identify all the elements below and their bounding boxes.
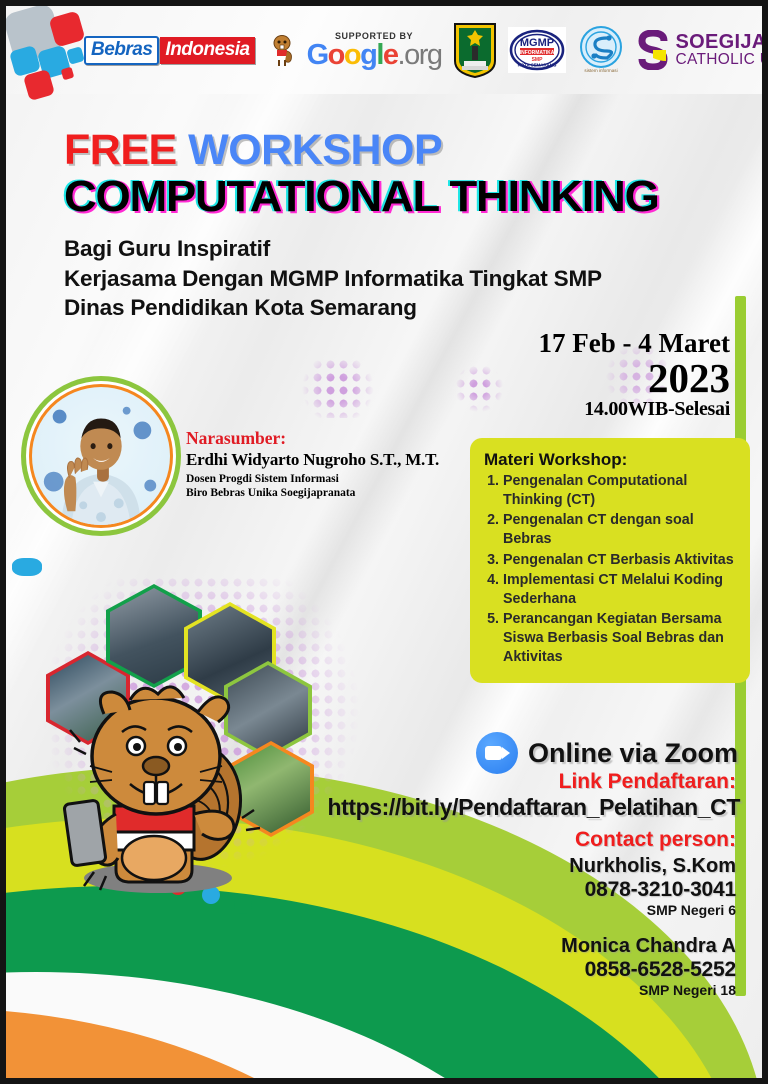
contact-school-1: SMP Negeri 6 (561, 902, 736, 918)
sponsor-header: Bebras Indonesia SUPPORTED BY Google.org (6, 6, 762, 94)
list-item: Implementasi CT Melalui Koding Sederhana (503, 571, 738, 609)
registration-url[interactable]: https://bit.ly/Pendaftaran_Pelatihan_CT (327, 794, 740, 821)
google-letter-e: e (383, 39, 398, 71)
google-letter-o1: o (328, 39, 344, 71)
google-letter-g1: G (307, 39, 328, 71)
materials-heading: Materi Workshop: (484, 450, 738, 470)
platform-row: Online via Zoom (476, 732, 738, 774)
university-name-line1: SOEGIJAPRANATA (676, 32, 762, 52)
svg-text:KOTA SEMARANG: KOTA SEMARANG (517, 63, 556, 68)
soegijapranata-wordmark: SOEGIJAPRANATA CATHOLIC UNIVERSITY (676, 32, 762, 68)
page-title-main: COMPUTATIONAL THINKING (64, 172, 659, 222)
speaker-label: Narasumber: (186, 428, 439, 449)
university-name-line2: CATHOLIC UNIVERSITY (676, 52, 762, 68)
svg-text:sistem informasi: sistem informasi (584, 68, 617, 73)
soegijapranata-logo: SOEGIJAPRANATA CATHOLIC UNIVERSITY (636, 30, 762, 70)
platform-label: Online via Zoom (528, 738, 738, 769)
speaker-role-line-2: Biro Bebras Unika Soegijapranata (186, 486, 439, 500)
mgmp-logo: MGMP INFORMATIKA SMP KOTA SEMARANG (508, 27, 566, 73)
list-item: Pengenalan CT Berbasis Aktivitas (503, 551, 738, 570)
google-org-logo: SUPPORTED BY Google.org (307, 31, 442, 70)
speaker-role-line-1: Dosen Progdi Sistem Informasi (186, 472, 439, 486)
list-item: Pengenalan Computational Thinking (CT) (503, 472, 738, 510)
dot-green (234, 896, 252, 914)
svg-text:INFORMATIKA: INFORMATIKA (519, 50, 554, 56)
speaker-photo-ring-orange (29, 384, 173, 528)
bebras-logo-part2: Indonesia (160, 37, 254, 64)
registration-heading: Link Pendaftaran: (559, 770, 736, 794)
list-item: Pengenalan CT dengan soal Bebras (503, 511, 738, 549)
bebras-indonesia-logo: Bebras Indonesia (84, 36, 255, 65)
list-item: Perancangan Kegiatan Bersama Siswa Berba… (503, 610, 738, 667)
speaker-info: Narasumber: Erdhi Widyarto Nugroho S.T.,… (186, 428, 439, 501)
contact-heading: Contact person: (561, 828, 736, 852)
halftone-cluster-small (454, 364, 504, 412)
poster-canvas: Bebras Indonesia SUPPORTED BY Google.org (6, 6, 762, 1078)
subtitle-line-2: Kerjasama Dengan MGMP Informatika Tingka… (64, 264, 602, 294)
contact-name-2: Monica Chandra A (561, 935, 736, 958)
subtitle-line-3: Dinas Pendidikan Kota Semarang (64, 293, 602, 323)
materials-list: Pengenalan Computational Thinking (CT) P… (484, 472, 738, 668)
sistem-informasi-logo: sistem informasi (576, 25, 626, 75)
semarang-crest-icon (452, 21, 498, 79)
speaker-role: Dosen Progdi Sistem Informasi Biro Bebra… (186, 472, 439, 501)
soegijapranata-mark-icon (636, 30, 670, 70)
poster-root: Bebras Indonesia SUPPORTED BY Google.org (0, 0, 768, 1084)
schedule-block: 17 Feb - 4 Maret 2023 14.00WIB-Selesai (539, 328, 730, 421)
title-word-free: FREE (64, 126, 177, 174)
contact-phone-1[interactable]: 0878-3210-3041 (561, 878, 736, 902)
contact-block: Contact person: Nurkholis, S.Kom 0878-32… (561, 828, 736, 998)
bebras-logo-part1: Bebras (84, 36, 159, 65)
bebras-beaver-mascot (46, 646, 276, 896)
title-word-workshop: WORKSHOP (177, 126, 442, 174)
page-title-free-workshop: FREE WORKSHOP (64, 126, 442, 175)
event-year: 2023 (539, 359, 730, 398)
beaver-mini-icon (269, 33, 295, 67)
google-letter-g2: g (360, 39, 376, 71)
title-subtitle-block: Bagi Guru Inspiratif Kerjasama Dengan MG… (64, 234, 602, 323)
contact-school-2: SMP Negeri 18 (561, 982, 736, 998)
speaker-photo-ring-white (26, 381, 176, 531)
speaker-photo (32, 387, 170, 525)
google-wordmark: Google.org (307, 41, 442, 70)
contact-phone-2[interactable]: 0858-6528-5252 (561, 958, 736, 982)
workshop-materials-box: Materi Workshop: Pengenalan Computationa… (470, 438, 750, 683)
event-time: 14.00WIB-Selesai (539, 398, 730, 421)
google-org-suffix: .org (398, 39, 442, 71)
contact-name-1: Nurkholis, S.Kom (561, 855, 736, 878)
speaker-name: Erdhi Widyarto Nugroho S.T., M.T. (186, 450, 439, 470)
subtitle-line-1: Bagi Guru Inspiratif (64, 234, 602, 264)
contact-spacer (561, 918, 736, 932)
video-camera-icon (476, 732, 518, 774)
google-letter-o2: o (344, 39, 360, 71)
halftone-cluster-top (298, 358, 378, 418)
speaker-photo-frame (21, 376, 181, 536)
svg-text:MGMP: MGMP (519, 37, 553, 49)
dot-cloud-left (12, 558, 42, 576)
